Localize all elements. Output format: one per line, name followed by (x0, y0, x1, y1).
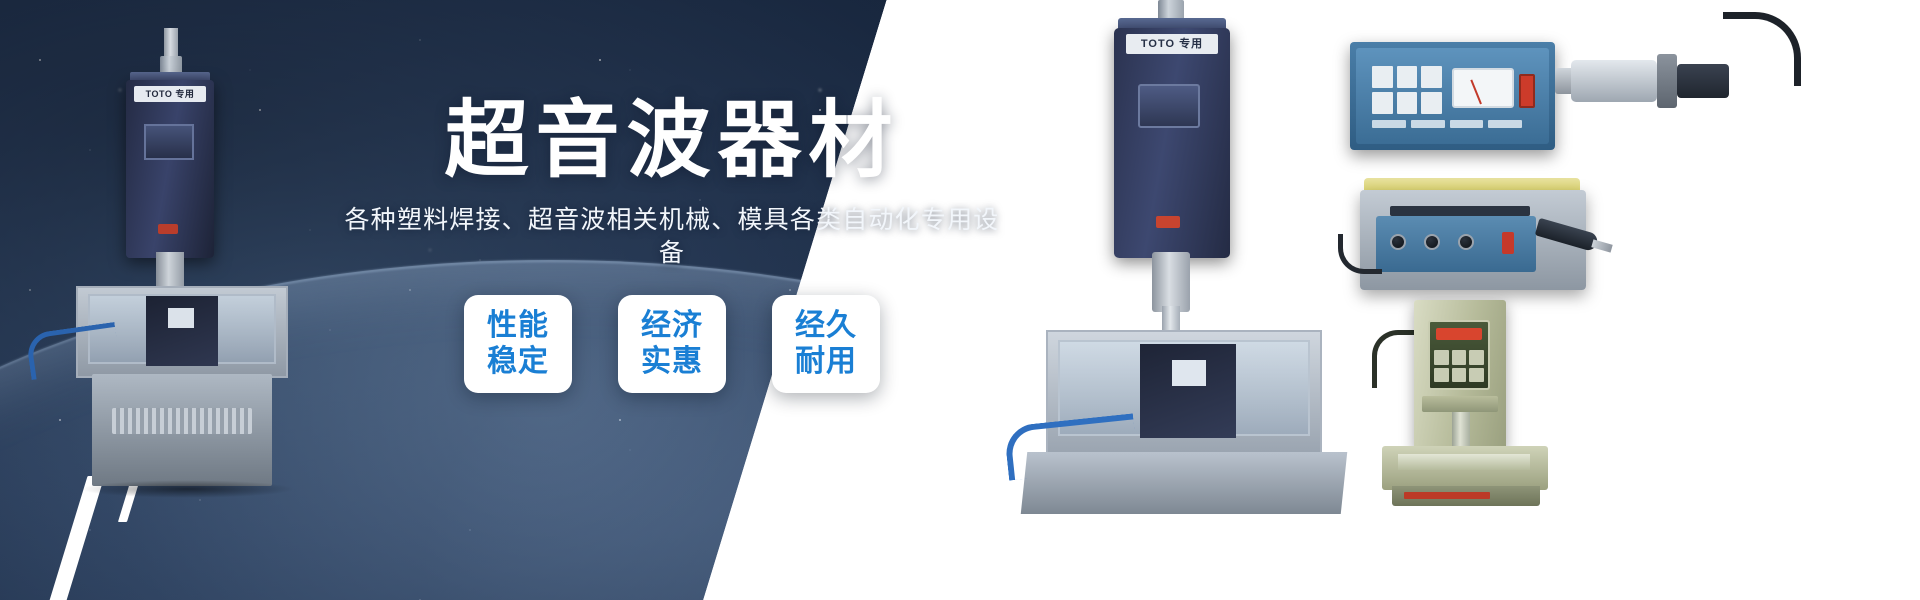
feature-pill-line1: 经久 (795, 308, 857, 345)
welder-brand-label: TOTO 专用 (1126, 34, 1218, 54)
column-welder-plate (1398, 454, 1530, 470)
welder-workpiece (1172, 360, 1206, 386)
banner-copy-block: 超音波器材 各种塑料焊接、超音波相关机械、模具各类自动化专用设备 性能 稳定 经… (332, 96, 1012, 393)
generator-label-row (1372, 120, 1522, 142)
feature-pill-line1: 性能 (487, 308, 549, 345)
generator-faceplate (1356, 48, 1549, 144)
unit-display-slot (1390, 206, 1530, 216)
product-photo-column-welder (1378, 300, 1554, 520)
column-welder-led-display (1436, 328, 1482, 340)
unit-red-switch (1502, 232, 1514, 254)
welder-control-window (1138, 84, 1200, 128)
column-welder-red-strip (1404, 492, 1490, 499)
feature-pill-line2: 耐用 (795, 344, 857, 381)
feature-pill-row: 性能 稳定 经济 实惠 经久 耐用 (332, 295, 1012, 393)
banner-title: 超音波器材 (332, 96, 1012, 184)
unit-power-cord (1338, 234, 1382, 274)
generator-power-switch (1519, 74, 1535, 108)
generator-button-grid (1372, 66, 1442, 114)
product-photo-handheld-unit (1360, 172, 1600, 294)
hero-banner: TOTO 专用 TOTO 专用 (0, 0, 1920, 600)
column-welder-arm (1422, 396, 1498, 412)
generator-analog-meter (1452, 68, 1514, 108)
welder-red-button (1156, 216, 1180, 228)
welder-dark-fixture (1140, 344, 1236, 438)
product-photo-main-welder: TOTO 专用 (1040, 0, 1340, 520)
welder-horn (1152, 252, 1190, 312)
product-photo-generator (1350, 42, 1555, 150)
feature-pill-durability[interactable]: 经久 耐用 (772, 295, 880, 393)
unit-knob (1390, 234, 1406, 250)
feature-pill-economy[interactable]: 经济 实惠 (618, 295, 726, 393)
transducer-body (1571, 60, 1657, 102)
unit-knob (1424, 234, 1440, 250)
feature-pill-line2: 实惠 (641, 344, 703, 381)
feature-pill-performance[interactable]: 性能 稳定 (464, 295, 572, 393)
unit-knob (1458, 234, 1474, 250)
transducer-ring (1657, 54, 1677, 108)
banner-subtitle: 各种塑料焊接、超音波相关机械、模具各类自动化专用设备 (332, 204, 1012, 269)
product-photo-transducer (1555, 30, 1785, 126)
feature-pill-line1: 经济 (641, 308, 703, 345)
column-welder-keypad (1434, 350, 1484, 382)
unit-gun-tip (1591, 239, 1612, 252)
column-welder-horn (1452, 412, 1470, 450)
transducer-connector (1677, 64, 1729, 98)
feature-pill-line2: 稳定 (487, 344, 549, 381)
transducer-cable (1723, 12, 1801, 86)
